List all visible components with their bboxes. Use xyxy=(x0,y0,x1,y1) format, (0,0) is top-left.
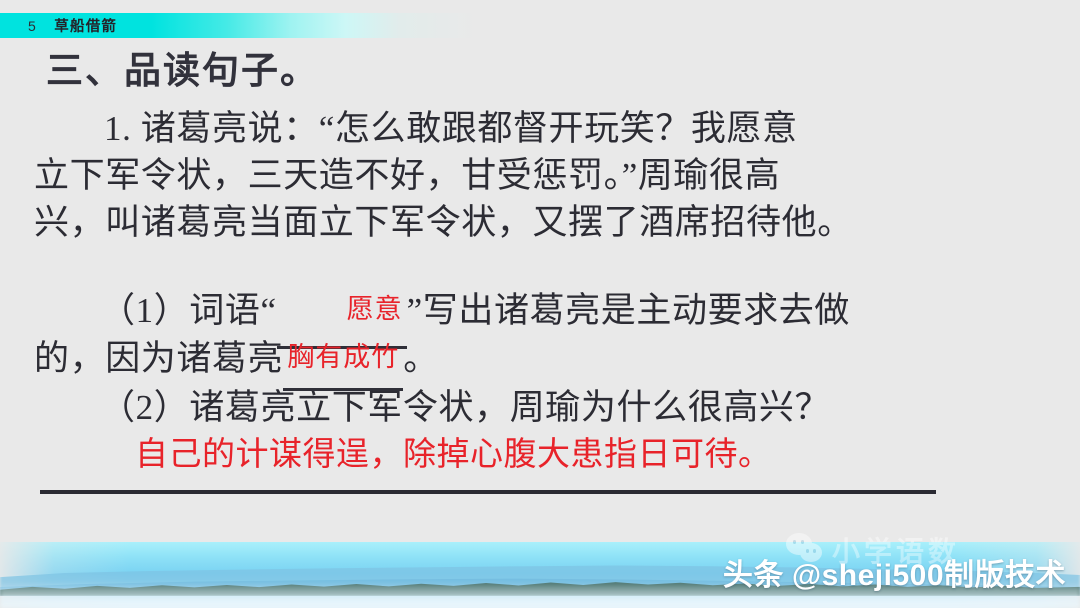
question-1-blank-answer[interactable]: 愿意 xyxy=(277,286,407,333)
question-2-label: （2）诸葛亮立下军令状，周瑜为什么很高兴？ xyxy=(100,388,830,427)
question-1-prefix: （1）词语“ xyxy=(100,291,277,330)
question-2-answer-text: 自己的计谋得逞，除掉心腹大患指日可待。 xyxy=(135,437,772,473)
lesson-number: 5 xyxy=(28,18,36,34)
question-2-answer: 自己的计谋得逞，除掉心腹大患指日可待。 xyxy=(0,431,1080,477)
slide-canvas: 5 草船借箭 三、品读句子。 1. 诸葛亮说：“怎么敢跟都督开玩笑？我愿意 立下… xyxy=(0,0,1080,608)
quote-paragraph-line-1: 1. 诸葛亮说：“怎么敢跟都督开玩笑？我愿意 xyxy=(0,105,1080,152)
quote-text-line-3: 兴，叫诸葛亮当面立下军令状，又摆了酒席招待他。 xyxy=(34,203,853,242)
question-1-line2-suffix: 。 xyxy=(403,339,439,378)
quote-text-line-2: 立下军令状，三天造不好，甘受惩罚。”周瑜很高 xyxy=(34,156,780,195)
brand-watermark: 头条 @sheji500制版技术 xyxy=(723,550,1066,594)
question-1-line2-prefix: 的，因为诸葛亮 xyxy=(34,339,283,378)
question-1-line-1: （1）词语“愿意”写出诸葛亮是主动要求去做 xyxy=(0,286,1080,334)
answer-underline-rule xyxy=(40,490,936,494)
quote-text-line-1: 1. 诸葛亮说：“怎么敢跟都督开玩笑？我愿意 xyxy=(104,109,798,148)
brand-watermark-handle: @sheji500制版技术 xyxy=(792,550,1066,594)
brand-watermark-prefix: 头条 xyxy=(723,550,784,594)
question-1-blank-answer-2[interactable]: 胸有成竹 xyxy=(283,334,403,381)
question-1-suffix: ”写出诸葛亮是主动要求去做 xyxy=(407,291,850,330)
section-heading: 三、品读句子。 xyxy=(0,42,1080,93)
slide-content: 三、品读句子。 1. 诸葛亮说：“怎么敢跟都督开玩笑？我愿意 立下军令状，三天造… xyxy=(0,42,1080,477)
question-1-line-2: 的，因为诸葛亮胸有成竹。 xyxy=(0,334,1080,382)
lesson-title: 草船借箭 xyxy=(54,15,117,36)
question-2-text: （2）诸葛亮立下军令状，周瑜为什么很高兴？ xyxy=(0,384,1080,431)
header-bar: 5 草船借箭 xyxy=(0,13,1080,38)
quote-paragraph-line-3: 兴，叫诸葛亮当面立下军令状，又摆了酒席招待他。 xyxy=(0,199,1080,246)
quote-paragraph-line-2: 立下军令状，三天造不好，甘受惩罚。”周瑜很高 xyxy=(0,152,1080,199)
